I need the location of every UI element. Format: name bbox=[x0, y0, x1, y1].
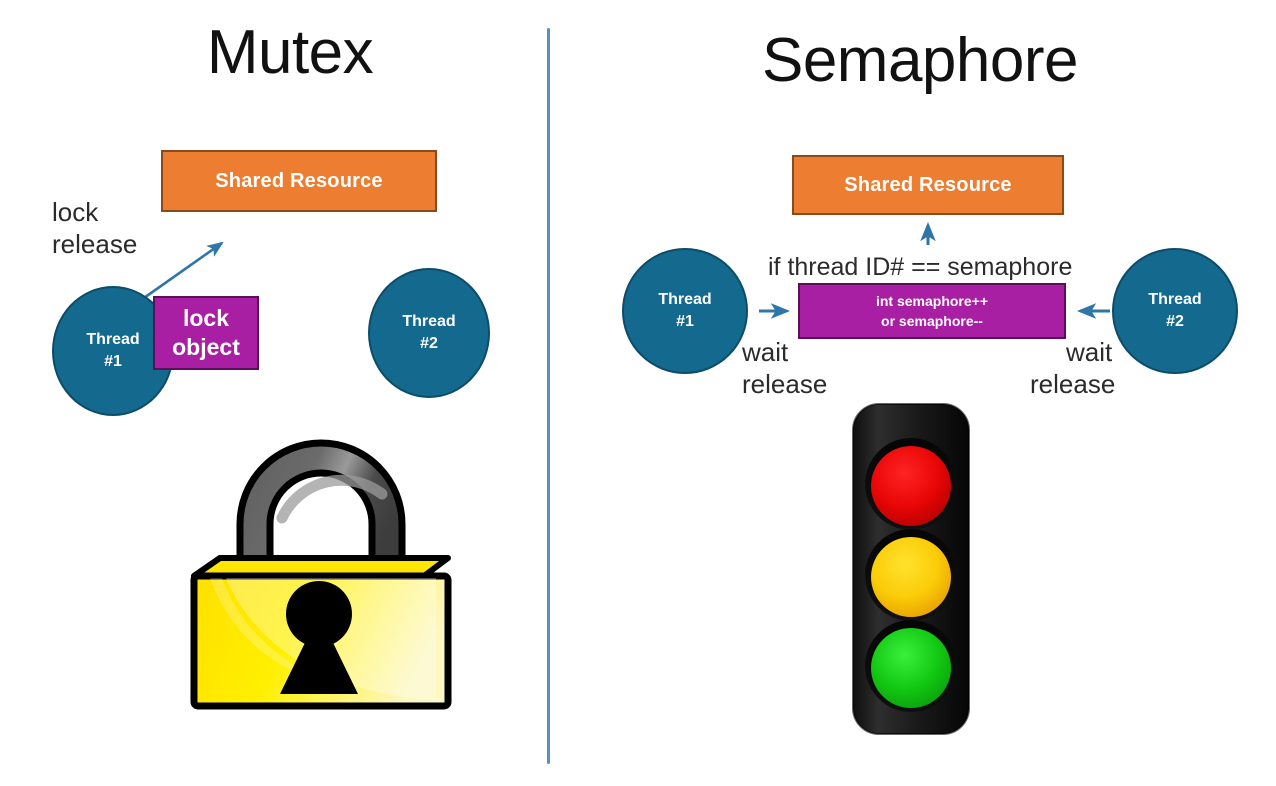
mutex-thread-1-line1: Thread bbox=[86, 329, 139, 351]
semaphore-thread-2-circle: Thread #2 bbox=[1112, 248, 1238, 374]
diagram-canvas: Mutex Shared Resource lock release Threa… bbox=[0, 0, 1276, 786]
mutex-lock-object-line1: lock bbox=[183, 304, 229, 333]
semaphore-condition-label: if thread ID# == semaphore bbox=[768, 252, 1072, 282]
semaphore-right-release-label: release bbox=[1030, 368, 1115, 402]
mutex-title: Mutex bbox=[90, 22, 490, 84]
semaphore-title: Semaphore bbox=[680, 30, 1160, 92]
mutex-thread-2-circle: Thread #2 bbox=[368, 268, 490, 398]
mutex-thread-2-line2: #2 bbox=[420, 333, 438, 355]
semaphore-code-line2: or semaphore-- bbox=[881, 311, 983, 331]
mutex-lock-object-box: lock object bbox=[153, 296, 259, 370]
semaphore-shared-resource-label: Shared Resource bbox=[844, 174, 1012, 197]
mutex-thread-1-line2: #1 bbox=[104, 351, 122, 373]
semaphore-up-arrow bbox=[918, 219, 938, 247]
semaphore-shared-resource-box: Shared Resource bbox=[792, 155, 1064, 215]
semaphore-left-arrow bbox=[757, 303, 797, 319]
semaphore-left-wait-label: wait bbox=[742, 336, 788, 370]
panel-divider bbox=[547, 28, 550, 764]
semaphore-code-line1: int semaphore++ bbox=[876, 291, 988, 311]
mutex-lock-label: lock bbox=[52, 196, 98, 230]
traffic-light-icon bbox=[845, 398, 977, 746]
semaphore-thread-1-circle: Thread #1 bbox=[622, 248, 748, 374]
mutex-shared-resource-label: Shared Resource bbox=[215, 170, 383, 193]
mutex-release-label: release bbox=[52, 228, 137, 262]
mutex-lock-object-line2: object bbox=[172, 333, 240, 362]
semaphore-right-wait-label: wait bbox=[1066, 336, 1112, 370]
semaphore-thread-1-line1: Thread bbox=[658, 289, 711, 311]
mutex-thread-2-line1: Thread bbox=[402, 311, 455, 333]
semaphore-code-box: int semaphore++ or semaphore-- bbox=[798, 283, 1066, 339]
semaphore-thread-2-line1: Thread bbox=[1148, 289, 1201, 311]
padlock-icon bbox=[186, 418, 456, 720]
semaphore-right-arrow bbox=[1068, 303, 1112, 319]
semaphore-left-release-label: release bbox=[742, 368, 827, 402]
mutex-shared-resource-box: Shared Resource bbox=[161, 150, 437, 212]
semaphore-thread-1-line2: #1 bbox=[676, 311, 694, 333]
semaphore-thread-2-line2: #2 bbox=[1166, 311, 1184, 333]
